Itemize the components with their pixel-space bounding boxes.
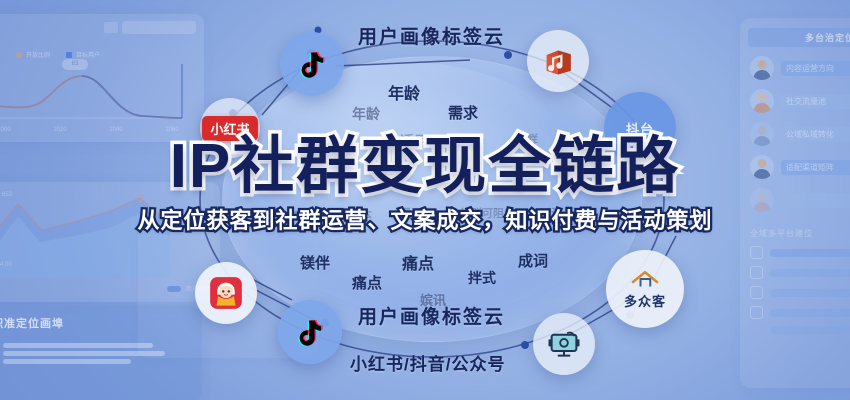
node-avatar[interactable] (195, 262, 257, 324)
node-duozhongke[interactable]: 多众客 (606, 250, 684, 328)
music-box-icon (540, 43, 576, 79)
video-monitor-icon (547, 330, 581, 358)
node-tiktok-bottom[interactable] (278, 300, 342, 364)
girl-avatar-icon (207, 274, 245, 312)
node-tiktok-top[interactable] (280, 32, 344, 96)
orbit-connector-ring (0, 0, 850, 400)
node-xiaohongshu[interactable]: 小红书 (200, 98, 260, 158)
caption-top: 用户画像标签云 (358, 22, 505, 49)
node-video[interactable] (533, 313, 595, 375)
poster-canvas: 总量 开放比例 目标用户 63 2000 2020 2040 2060 (0, 0, 850, 400)
node-douyin[interactable]: 抖台 (604, 92, 676, 164)
node-label: 多众客 (624, 291, 666, 310)
tiktok-icon (295, 47, 329, 81)
node-label: 抖台 (626, 119, 654, 138)
node-music[interactable] (527, 30, 589, 92)
caption-bottom: 用户画像标签云 (358, 302, 505, 329)
tiktok-icon (293, 315, 327, 349)
caption-footer: 小红书/抖音/公众号 (350, 350, 505, 375)
house-icon (630, 268, 660, 290)
xiaohongshu-badge: 小红书 (202, 116, 257, 141)
